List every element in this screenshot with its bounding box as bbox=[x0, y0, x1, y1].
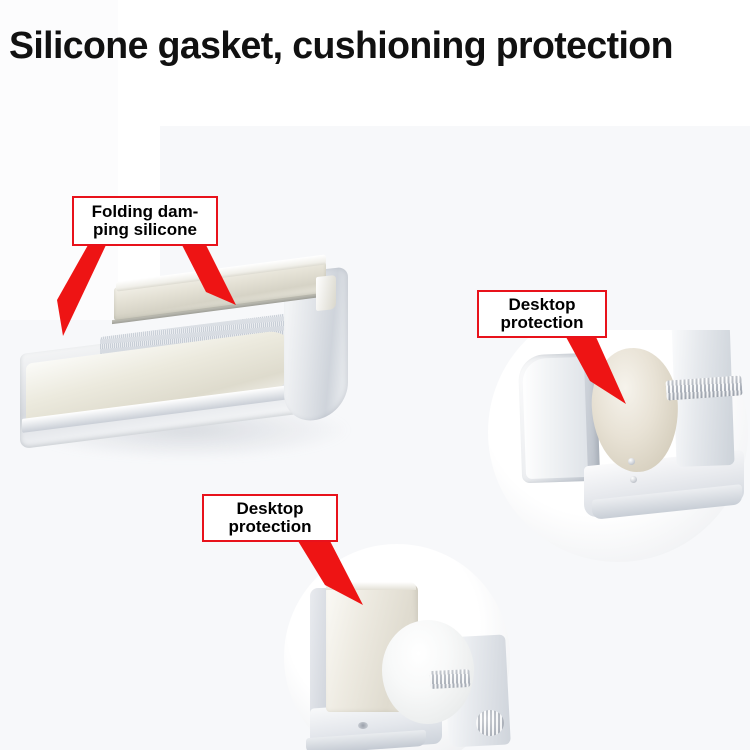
callout-arrow-folding-right bbox=[182, 245, 236, 305]
product-feature-page: Silicone gasket, cushioning protection bbox=[0, 0, 750, 750]
callout-arrow-desktop-right bbox=[566, 337, 626, 404]
callout-line-1: Desktop bbox=[208, 500, 332, 518]
callout-desktop-protection-bottom[interactable]: Desktop protection bbox=[202, 494, 338, 542]
callout-line-2: ping silicone bbox=[78, 221, 212, 239]
callout-arrows-layer bbox=[0, 0, 750, 750]
callout-line-1: Folding dam- bbox=[78, 203, 212, 221]
callout-arrow-desktop-bottom bbox=[298, 541, 363, 605]
callout-line-2: protection bbox=[208, 518, 332, 536]
callout-desktop-protection-right[interactable]: Desktop protection bbox=[477, 290, 607, 338]
callout-line-2: protection bbox=[483, 314, 601, 332]
callout-line-1: Desktop bbox=[483, 296, 601, 314]
callout-folding-damping-silicone[interactable]: Folding dam- ping silicone bbox=[72, 196, 218, 246]
callout-arrow-folding-left bbox=[57, 245, 106, 336]
